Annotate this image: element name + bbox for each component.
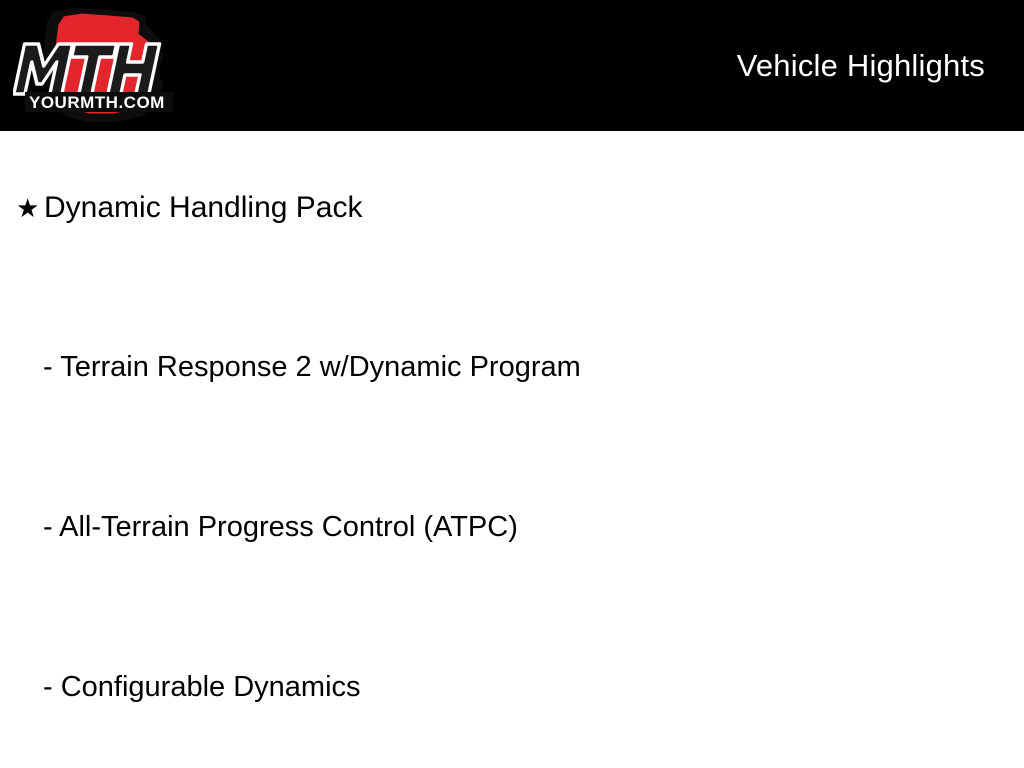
mth-logo: YOURMTH.COM (13, 4, 185, 126)
svg-text:YOURMTH.COM: YOURMTH.COM (29, 93, 165, 112)
star-icon: ★ (16, 195, 44, 221)
page-title: Vehicle Highlights (737, 48, 985, 84)
bullet-text-primary: Dynamic Handling Pack (44, 191, 362, 225)
slide-canvas: YOURMTH.COM Vehicle Highlights ★ Dynamic… (0, 0, 1024, 768)
bullet-text-sub-1: - Terrain Response 2 w/Dynamic Program (43, 351, 581, 384)
list-item: - Configurable Dynamics (43, 671, 361, 704)
list-item: ★ Dynamic Handling Pack (16, 191, 362, 225)
bullet-text-sub-3: - Configurable Dynamics (43, 671, 361, 704)
list-item: - Terrain Response 2 w/Dynamic Program (43, 351, 581, 384)
bullet-text-sub-2: - All-Terrain Progress Control (ATPC) (43, 511, 518, 544)
slide-body: ★ Dynamic Handling Pack - Terrain Respon… (0, 131, 1024, 768)
logo-tagline: YOURMTH.COM (25, 92, 173, 112)
list-item: - All-Terrain Progress Control (ATPC) (43, 511, 518, 544)
slide-header-bar: YOURMTH.COM Vehicle Highlights (0, 0, 1024, 131)
